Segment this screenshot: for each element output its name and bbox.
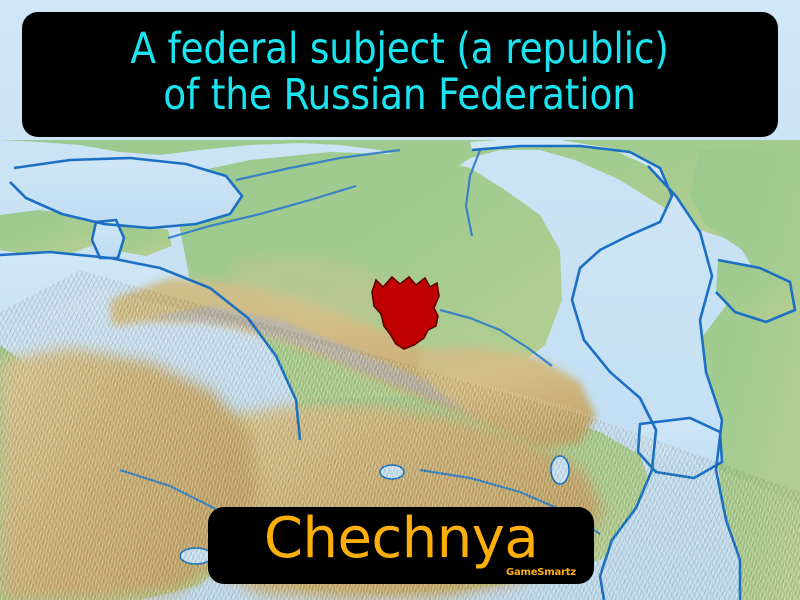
term-panel: Chechnya GameSmartz xyxy=(208,507,594,584)
lake-urmia xyxy=(551,456,569,484)
lake-sevan xyxy=(380,465,404,479)
term-label: Chechnya xyxy=(264,509,538,569)
definition-card: A federal subject (a republic) of the Ru… xyxy=(0,0,800,600)
watermark-label: GameSmartz xyxy=(506,567,576,578)
definition-line-2: of the Russian Federation xyxy=(164,74,637,118)
definition-line-1: A federal subject (a republic) xyxy=(131,28,669,72)
definition-panel: A federal subject (a republic) of the Ru… xyxy=(22,12,778,137)
